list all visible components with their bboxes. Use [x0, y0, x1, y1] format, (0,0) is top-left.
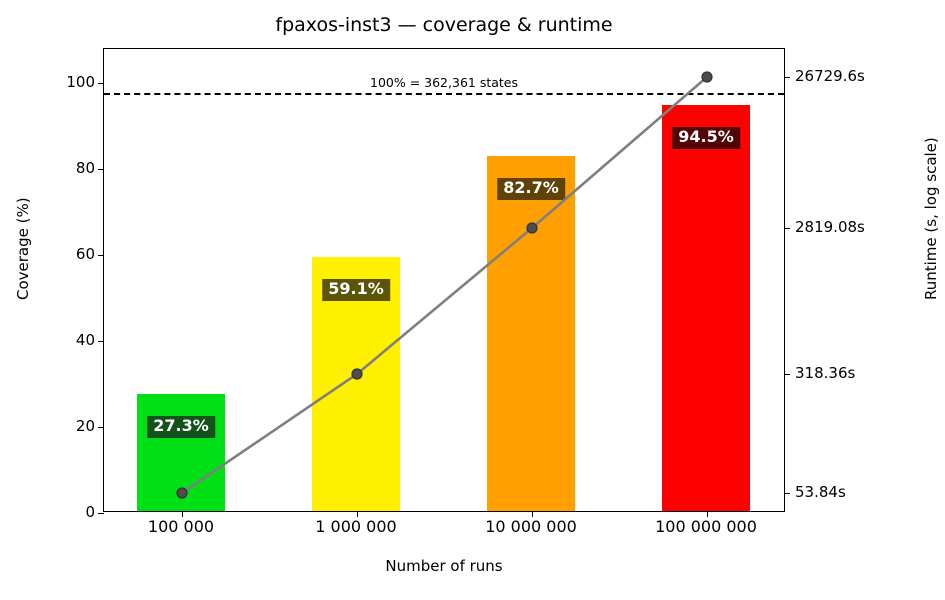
xtick-label-0: 100 000 [148, 517, 214, 536]
ytick-label-right-2: 2819.08s [795, 218, 865, 236]
ytick-label-left-0: 0 [55, 503, 95, 521]
xtick-label-2: 10 000 000 [485, 517, 577, 536]
runtime-marker-0 [177, 488, 187, 498]
ytick-label-right-0: 53.84s [795, 483, 846, 501]
runtime-marker-2 [527, 223, 537, 233]
ytick-label-right-1: 318.36s [795, 364, 855, 382]
ytick-label-left-60: 60 [55, 245, 95, 263]
x-axis-label: Number of runs [103, 557, 785, 575]
ytick-mark-left-0 [98, 513, 104, 514]
xtick-label-1: 1 000 000 [315, 517, 396, 536]
runtime-marker-3 [702, 72, 712, 82]
chart-title: fpaxos-inst3 — coverage & runtime [103, 14, 785, 36]
runtime-polyline [182, 77, 707, 493]
runtime-marker-1 [352, 369, 362, 379]
ytick-label-left-40: 40 [55, 331, 95, 349]
chart-figure: fpaxos-inst3 — coverage & runtime 0 20 4… [0, 0, 945, 600]
y-axis-label-right: Runtime (s, log scale) [922, 137, 940, 300]
ytick-label-left-100: 100 [45, 73, 95, 91]
ytick-label-right-3: 26729.6s [795, 67, 865, 85]
xtick-label-3: 100 000 000 [655, 517, 757, 536]
ytick-label-left-20: 20 [55, 417, 95, 435]
y-axis-label-left: Coverage (%) [14, 197, 32, 300]
ytick-label-left-80: 80 [55, 159, 95, 177]
plot-area: 27.3% 59.1% 82.7% 94.5% 100% = 362,361 s… [103, 48, 785, 512]
runtime-line-series [104, 49, 786, 513]
plot-inner: 27.3% 59.1% 82.7% 94.5% 100% = 362,361 s… [104, 49, 784, 511]
